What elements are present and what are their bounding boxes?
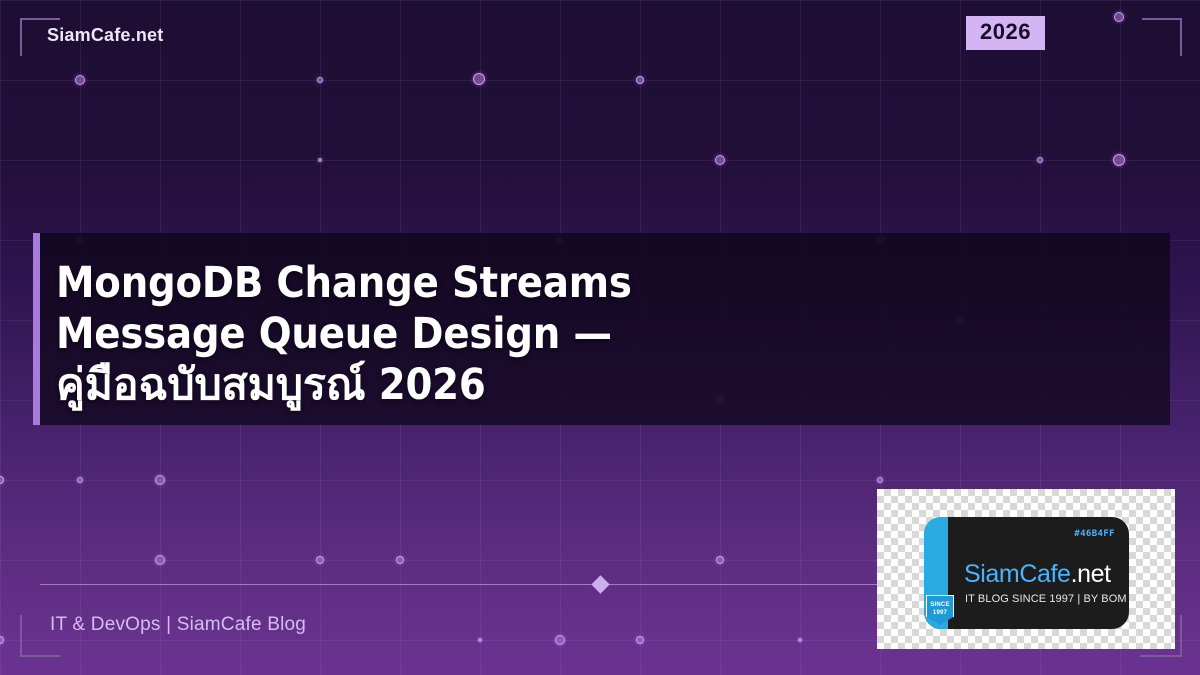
hero-banner: SiamCafe.net 2026 MongoDB Change Streams… bbox=[0, 0, 1200, 675]
logo-brand-name: SiamCafe.net bbox=[964, 560, 1111, 589]
year-badge: 2026 bbox=[966, 16, 1045, 50]
background-node bbox=[318, 158, 322, 162]
logo-tagline: IT BLOG SINCE 1997 | BY BOM bbox=[965, 593, 1127, 605]
title-accent-bar bbox=[33, 233, 40, 425]
background-node bbox=[1113, 154, 1125, 166]
logo-inner-panel: SINCE 1997 #46B4FF SiamCafe.net IT BLOG … bbox=[924, 517, 1129, 629]
background-node bbox=[473, 73, 485, 85]
logo-brand-main: SiamCafe bbox=[964, 560, 1071, 588]
background-node bbox=[798, 638, 802, 642]
background-node bbox=[555, 635, 565, 645]
footer-caption: IT & DevOps | SiamCafe Blog bbox=[50, 614, 306, 636]
background-node bbox=[316, 556, 324, 564]
logo-brand-tld: .net bbox=[1071, 560, 1111, 588]
background-node bbox=[155, 475, 165, 485]
logo-card: SINCE 1997 #46B4FF SiamCafe.net IT BLOG … bbox=[877, 489, 1175, 649]
background-node bbox=[0, 636, 4, 644]
background-node bbox=[716, 556, 724, 564]
background-node bbox=[77, 477, 83, 483]
divider-diamond-icon bbox=[591, 575, 609, 593]
page-title: MongoDB Change Streams Message Queue Des… bbox=[56, 258, 1156, 411]
corner-bracket-top-right bbox=[1142, 18, 1182, 56]
ribbon-line-1: SINCE bbox=[927, 601, 953, 609]
ribbon-line-2: 1997 bbox=[927, 609, 953, 617]
background-node bbox=[75, 75, 85, 85]
background-node bbox=[636, 76, 644, 84]
background-node bbox=[396, 556, 404, 564]
background-node bbox=[0, 476, 4, 484]
hex-color-label: #46B4FF bbox=[1074, 529, 1115, 539]
background-node bbox=[715, 155, 725, 165]
background-node bbox=[317, 77, 323, 83]
background-node bbox=[877, 477, 883, 483]
background-node bbox=[1114, 12, 1124, 22]
background-node bbox=[478, 638, 482, 642]
background-node bbox=[636, 636, 644, 644]
background-node bbox=[155, 555, 165, 565]
site-name: SiamCafe.net bbox=[47, 25, 163, 46]
background-node bbox=[1037, 157, 1043, 163]
